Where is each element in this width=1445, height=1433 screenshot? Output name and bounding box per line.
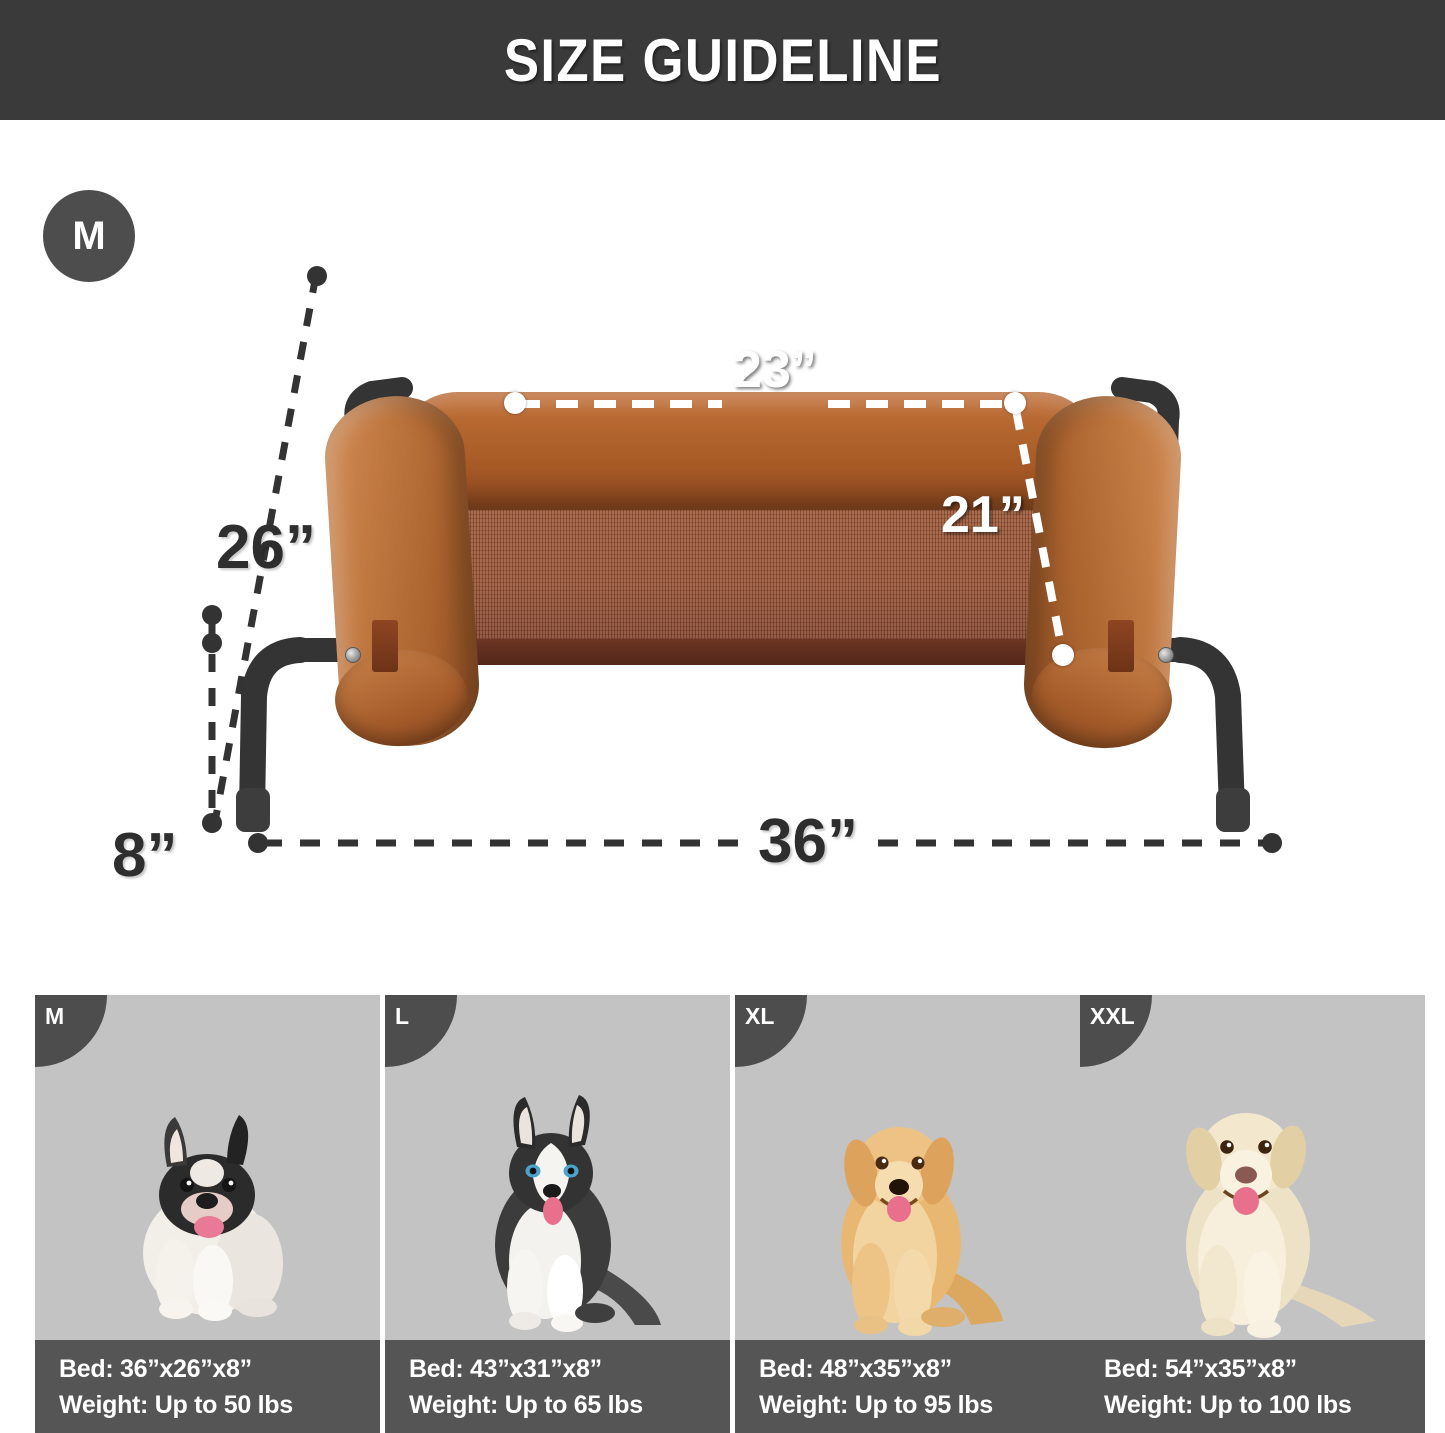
size-card-m[interactable]: M Bed: 36”x26”x8” Weight: Up to 50 lbs [35, 995, 380, 1433]
dim-dot-21-bottom [1052, 644, 1074, 666]
weight-limit-xxl: Weight: Up to 100 lbs [1104, 1388, 1425, 1424]
size-card-xxl[interactable]: XXL Bed: 54”x35”x8” Weight: Up to 100 lb… [1080, 995, 1425, 1433]
size-card-l[interactable]: L Bed: 43”x31”x8” Weight: Up to 65 lbs [385, 995, 730, 1433]
size-card-footer-l: Bed: 43”x31”x8” Weight: Up to 65 lbs [385, 1340, 730, 1433]
size-card-footer-xl: Bed: 48”x35”x8” Weight: Up to 95 lbs [735, 1340, 1080, 1433]
bed-dimensions-xl: Bed: 48”x35”x8” [759, 1352, 1080, 1388]
bed-dimensions-m: Bed: 36”x26”x8” [59, 1352, 380, 1388]
dim-label-36: 36” [758, 806, 858, 877]
frame-screw-right [1158, 647, 1174, 663]
weight-limit-m: Weight: Up to 50 lbs [59, 1388, 380, 1424]
hero-size-badge: M [43, 190, 135, 282]
dim-dot-23-right [1004, 392, 1026, 414]
dim-dot-8-bottom [202, 813, 222, 833]
weight-limit-xl: Weight: Up to 95 lbs [759, 1388, 1080, 1424]
dim-dot-36-left [248, 833, 268, 853]
size-guideline-page: SIZE GUIDELINE [0, 0, 1445, 1433]
bed-dimensions-xxl: Bed: 54”x35”x8” [1104, 1352, 1425, 1388]
frame-screw-left [345, 647, 361, 663]
mesh-front-edge [452, 639, 1080, 665]
leather-strap-left [372, 620, 398, 672]
size-card-badge-label-l: L [395, 1005, 409, 1028]
dim-dot-36-right [1262, 833, 1282, 853]
dim-dot-23-left [504, 392, 526, 414]
dim-dot-8-top [202, 633, 222, 653]
dog-photo-m [35, 995, 380, 1340]
golden-retriever-illustration [735, 995, 1080, 1340]
header-bar: SIZE GUIDELINE [0, 0, 1445, 120]
dim-dot-26-top [307, 266, 327, 286]
dog-photo-xl [735, 995, 1080, 1340]
labrador-illustration [1080, 995, 1425, 1340]
french-bulldog-illustration [35, 995, 380, 1340]
husky-illustration [385, 995, 730, 1340]
dim-dot-26-bottom [202, 605, 222, 625]
bed-dimensions-l: Bed: 43”x31”x8” [409, 1352, 730, 1388]
hero-size-badge-label: M [72, 214, 105, 259]
size-card-footer-xxl: Bed: 54”x35”x8” Weight: Up to 100 lbs [1080, 1340, 1425, 1433]
dim-label-21: 21” [941, 485, 1025, 545]
size-card-footer-m: Bed: 36”x26”x8” Weight: Up to 50 lbs [35, 1340, 380, 1433]
size-card-badge-label-xl: XL [745, 1005, 774, 1028]
weight-limit-l: Weight: Up to 65 lbs [409, 1388, 730, 1424]
dim-label-8: 8” [112, 820, 177, 891]
size-card-badge-label-xxl: XXL [1090, 1005, 1135, 1028]
dog-photo-xxl [1080, 995, 1425, 1340]
dim-label-26: 26” [216, 512, 316, 583]
dim-label-23: 23” [733, 340, 817, 400]
size-card-xl[interactable]: XL Bed: 48”x35”x8” Weight: Up to 95 lbs [735, 995, 1080, 1433]
size-card-badge-label-m: M [45, 1005, 64, 1028]
dog-photo-l [385, 995, 730, 1340]
product-hero: 26” 8” 36” 23” 21” [0, 120, 1445, 970]
leather-strap-right [1108, 620, 1134, 672]
size-cards-row: M Bed: 36”x26”x8” Weight: Up to 50 lbs [0, 995, 1445, 1433]
page-title: SIZE GUIDELINE [504, 26, 942, 95]
